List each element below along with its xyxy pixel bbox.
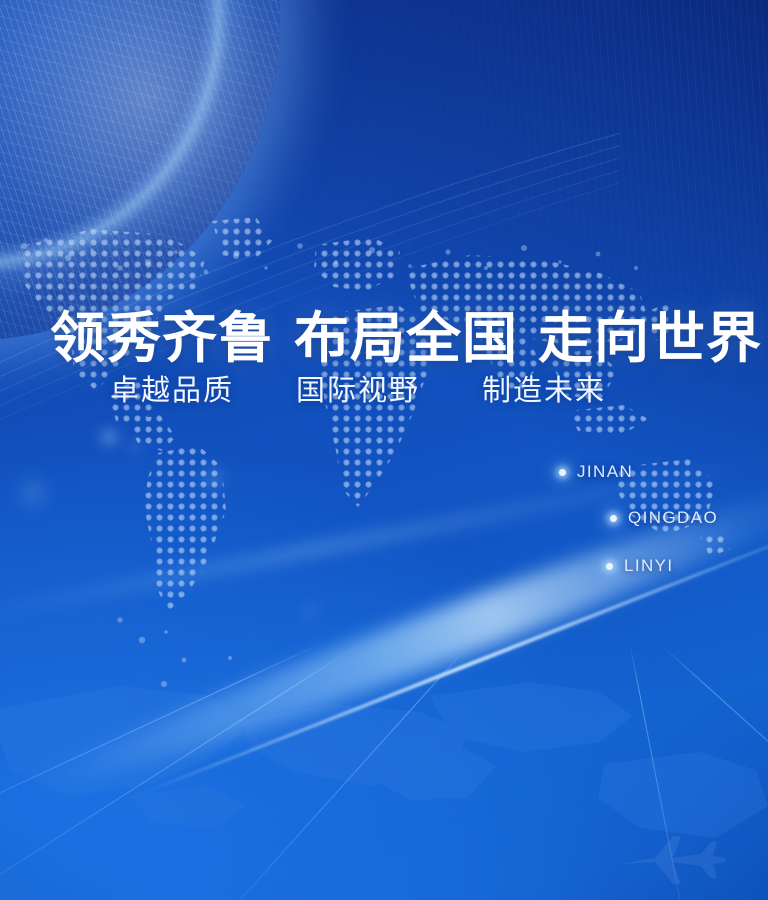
city-dot-marker-icon: [606, 563, 613, 570]
city-label-linyi: LINYI: [624, 556, 674, 576]
hero-banner: 领秀齐鲁布局全国走向世界 卓越品质国际视野制造未来 JINAN QINGDAO …: [0, 0, 768, 900]
headline-segment-1: 领秀齐鲁: [50, 305, 274, 371]
city-marker-linyi[interactable]: LINYI: [606, 556, 674, 576]
banner-copy: 领秀齐鲁布局全国走向世界 卓越品质国际视野制造未来 JINAN QINGDAO …: [0, 0, 768, 900]
page-subtitle: 卓越品质国际视野制造未来: [110, 371, 606, 409]
page-title: 领秀齐鲁布局全国走向世界: [50, 305, 762, 371]
city-dot-marker-icon: [610, 515, 617, 522]
city-marker-qingdao[interactable]: QINGDAO: [610, 508, 718, 528]
headline-segment-3: 走向世界: [538, 305, 762, 371]
subheadline-segment-3: 制造未来: [482, 371, 606, 409]
city-dot-marker-icon: [559, 469, 566, 476]
subheadline-segment-2: 国际视野: [296, 371, 420, 409]
city-label-jinan: JINAN: [577, 462, 633, 482]
city-label-qingdao: QINGDAO: [628, 508, 718, 528]
subheadline-segment-1: 卓越品质: [110, 371, 234, 409]
city-marker-jinan[interactable]: JINAN: [559, 462, 633, 482]
headline-segment-2: 布局全国: [294, 305, 518, 371]
